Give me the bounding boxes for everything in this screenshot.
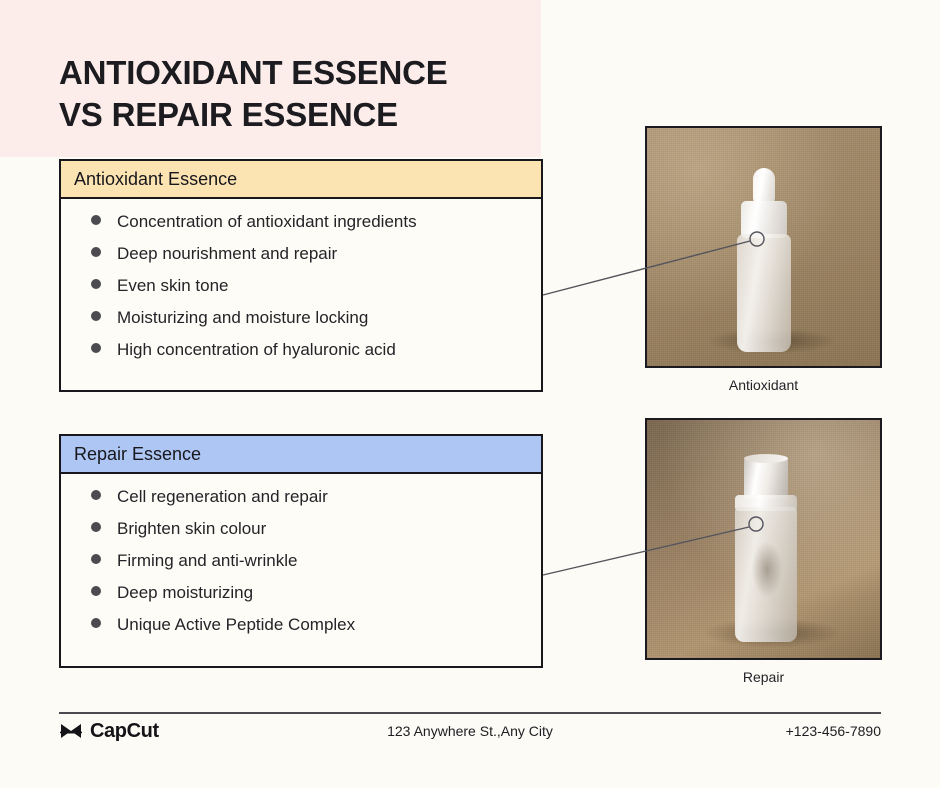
list-item-label: Firming and anti-wrinkle <box>117 551 297 571</box>
product-photo-antioxidant <box>645 126 882 368</box>
dropper-collar <box>741 201 787 238</box>
photo-caption-repair: Repair <box>645 669 882 685</box>
photo-backdrop <box>647 128 880 366</box>
list-item: Cell regeneration and repair <box>61 487 541 507</box>
brand-lockup: CapCut <box>59 720 159 743</box>
bullet-icon <box>91 279 101 289</box>
feature-list-repair: Cell regeneration and repair Brighten sk… <box>61 474 541 635</box>
bullet-icon <box>91 618 101 628</box>
list-item: Unique Active Peptide Complex <box>61 615 541 635</box>
bullet-icon <box>91 522 101 532</box>
list-item: High concentration of hyaluronic acid <box>61 340 541 360</box>
list-item-label: Cell regeneration and repair <box>117 487 328 507</box>
capcut-logo-icon <box>59 721 83 743</box>
bullet-icon <box>91 311 101 321</box>
card-header-label: Antioxidant Essence <box>74 169 237 190</box>
list-item: Concentration of antioxidant ingredients <box>61 212 541 232</box>
card-header-repair: Repair Essence <box>61 436 541 474</box>
card-header-label: Repair Essence <box>74 444 201 465</box>
footer-phone: +123-456-7890 <box>786 723 881 739</box>
list-item: Firming and anti-wrinkle <box>61 551 541 571</box>
bullet-icon <box>91 343 101 353</box>
list-item: Moisturizing and moisture locking <box>61 308 541 328</box>
feature-list-antioxidant: Concentration of antioxidant ingredients… <box>61 199 541 360</box>
bullet-icon <box>91 215 101 225</box>
list-item: Deep moisturizing <box>61 583 541 603</box>
list-item-label: Deep moisturizing <box>117 583 253 603</box>
bottle-cap <box>744 457 788 499</box>
bullet-icon <box>91 490 101 500</box>
page-title: ANTIOXIDANT ESSENCE VS REPAIR ESSENCE <box>59 52 529 136</box>
bullet-icon <box>91 247 101 257</box>
bottle-inner-liquid <box>752 542 782 597</box>
brand-name: CapCut <box>90 720 159 743</box>
comparison-card-repair: Repair Essence Cell regeneration and rep… <box>59 434 543 668</box>
bullet-icon <box>91 554 101 564</box>
list-item-label: Unique Active Peptide Complex <box>117 615 355 635</box>
card-header-antioxidant: Antioxidant Essence <box>61 161 541 199</box>
list-item-label: Brighten skin colour <box>117 519 266 539</box>
list-item-label: Even skin tone <box>117 276 229 296</box>
bottle-body <box>737 234 791 352</box>
list-item: Deep nourishment and repair <box>61 244 541 264</box>
list-item-label: Moisturizing and moisture locking <box>117 308 368 328</box>
bullet-icon <box>91 586 101 596</box>
list-item: Brighten skin colour <box>61 519 541 539</box>
list-item-label: Deep nourishment and repair <box>117 244 337 264</box>
list-item: Even skin tone <box>61 276 541 296</box>
product-photo-repair <box>645 418 882 660</box>
infographic-page: ANTIOXIDANT ESSENCE VS REPAIR ESSENCE An… <box>0 0 940 788</box>
bottle-cap-top <box>744 454 788 463</box>
footer-address: 123 Anywhere St.,Any City <box>330 723 610 739</box>
list-item-label: High concentration of hyaluronic acid <box>117 340 396 360</box>
dropper-bulb <box>753 168 775 204</box>
list-item-label: Concentration of antioxidant ingredients <box>117 212 417 232</box>
photo-backdrop <box>647 420 880 658</box>
comparison-card-antioxidant: Antioxidant Essence Concentration of ant… <box>59 159 543 392</box>
footer-divider <box>59 712 881 714</box>
photo-caption-antioxidant: Antioxidant <box>645 377 882 393</box>
